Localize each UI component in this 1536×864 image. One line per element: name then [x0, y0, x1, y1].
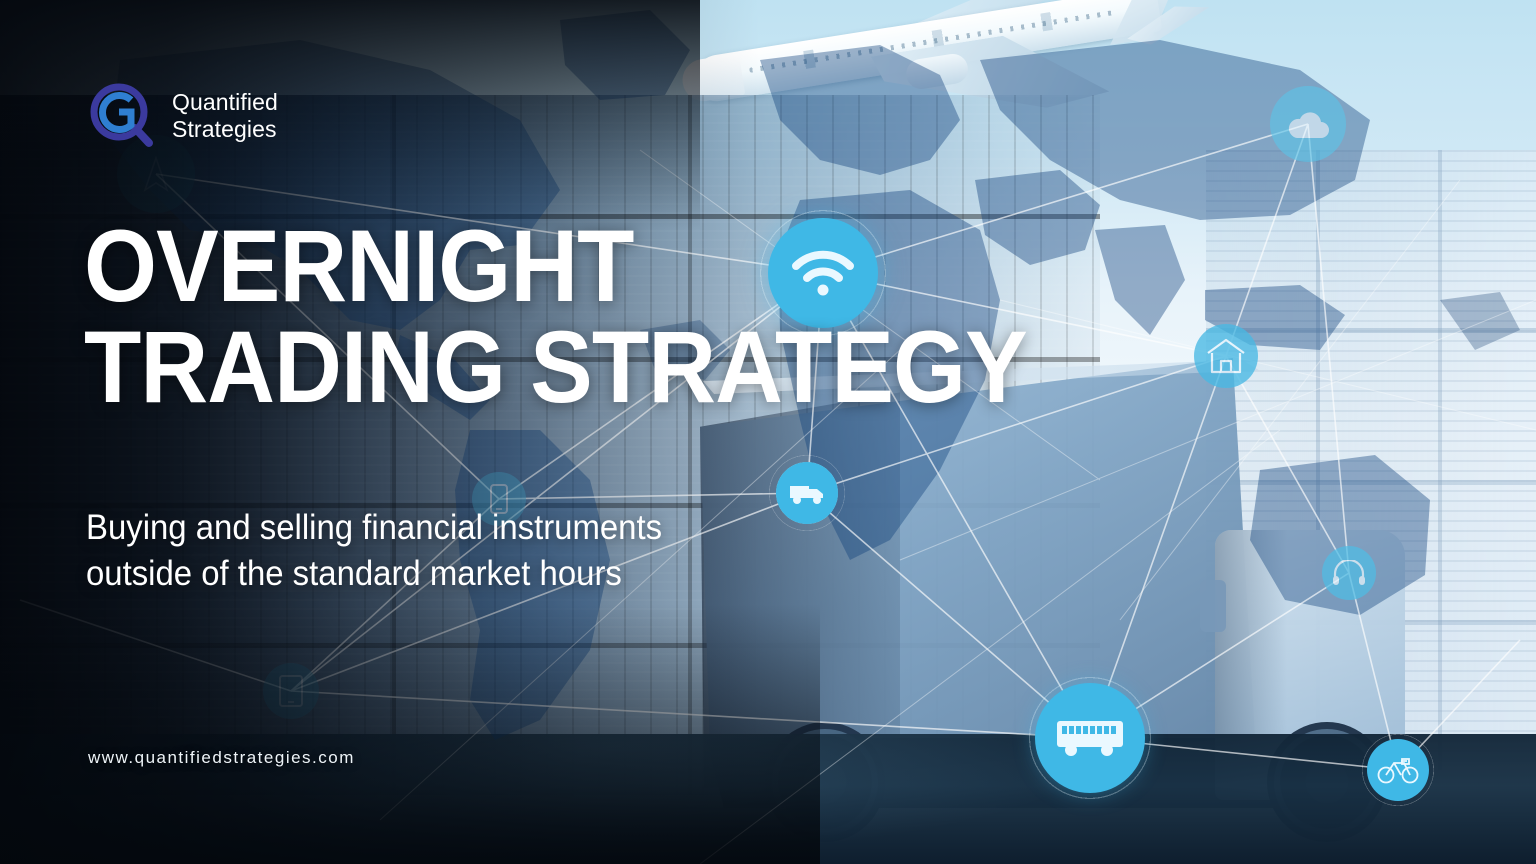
quantified-strategies-logo-icon [86, 80, 158, 152]
brand-name-line2: Strategies [172, 116, 278, 143]
website-url[interactable]: www.quantifiedstrategies.com [88, 748, 355, 768]
subhead-line-2: outside of the standard market hours [86, 551, 819, 597]
brand-logo-block[interactable]: Quantified Strategies [86, 80, 278, 152]
headline-line-1: OVERNIGHT [84, 216, 912, 317]
subhead-line-1: Buying and selling financial instruments [86, 505, 819, 551]
hero-content: Quantified Strategies OVERNIGHT TRADING … [0, 0, 1536, 864]
brand-name: Quantified Strategies [172, 89, 278, 143]
brand-name-line1: Quantified [172, 89, 278, 116]
hero-banner: Quantified Strategies OVERNIGHT TRADING … [0, 0, 1536, 864]
headline-line-2: TRADING STRATEGY [84, 317, 912, 418]
page-title: OVERNIGHT TRADING STRATEGY [84, 216, 912, 418]
page-subtitle: Buying and selling financial instruments… [86, 505, 819, 597]
